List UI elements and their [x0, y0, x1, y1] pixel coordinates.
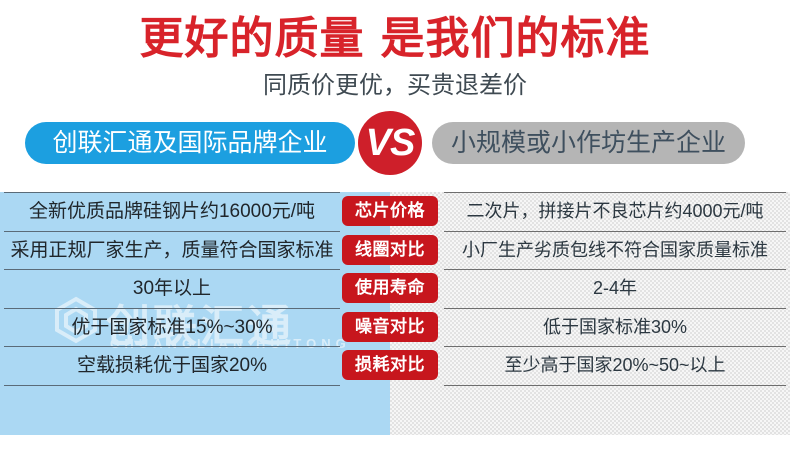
comparison-category-badge: 噪音对比: [342, 312, 438, 342]
comparison-cell-ours: 空载损耗优于国家20%: [4, 347, 340, 384]
comparison-row: 30年以上使用寿命2-4年: [0, 269, 790, 308]
table-bottom-divider-right: [444, 385, 786, 386]
comparison-row: 全新优质品牌硅钢片约16000元/吨芯片价格二次片，拼接片不良芯片约4000元/…: [0, 192, 790, 231]
comparison-cell-theirs: 2-4年: [444, 270, 786, 307]
comparison-row: 采用正规厂家生产，质量符合国家标准线圈对比小厂生产劣质包线不符合国家质量标准: [0, 231, 790, 270]
comparison-rows: 全新优质品牌硅钢片约16000元/吨芯片价格二次片，拼接片不良芯片约4000元/…: [0, 0, 790, 243]
comparison-cell-ours: 全新优质品牌硅钢片约16000元/吨: [4, 193, 340, 230]
promo-comparison-page: 更好的质量是我们的标准 同质价更优，买贵退差价 创联汇通及国际品牌企业 VS 小…: [0, 0, 790, 464]
comparison-row: 优于国家标准15%~30%噪音对比低于国家标准30%: [0, 308, 790, 347]
comparison-cell-ours: 优于国家标准15%~30%: [4, 309, 340, 346]
comparison-row: 空载损耗优于国家20%损耗对比至少高于国家20%~50~以上: [0, 346, 790, 385]
comparison-category-badge: 损耗对比: [342, 350, 438, 380]
comparison-category-badge: 芯片价格: [342, 196, 438, 226]
comparison-category-badge: 线圈对比: [342, 235, 438, 265]
comparison-cell-ours: 30年以上: [4, 270, 340, 307]
table-bottom-divider-left: [4, 385, 340, 386]
comparison-category-badge: 使用寿命: [342, 273, 438, 303]
comparison-cell-theirs: 低于国家标准30%: [444, 309, 786, 346]
comparison-cell-theirs: 小厂生产劣质包线不符合国家质量标准: [444, 232, 786, 269]
comparison-cell-theirs: 二次片，拼接片不良芯片约4000元/吨: [444, 193, 786, 230]
comparison-cell-theirs: 至少高于国家20%~50~以上: [444, 347, 786, 384]
comparison-cell-ours: 采用正规厂家生产，质量符合国家标准: [4, 232, 340, 269]
